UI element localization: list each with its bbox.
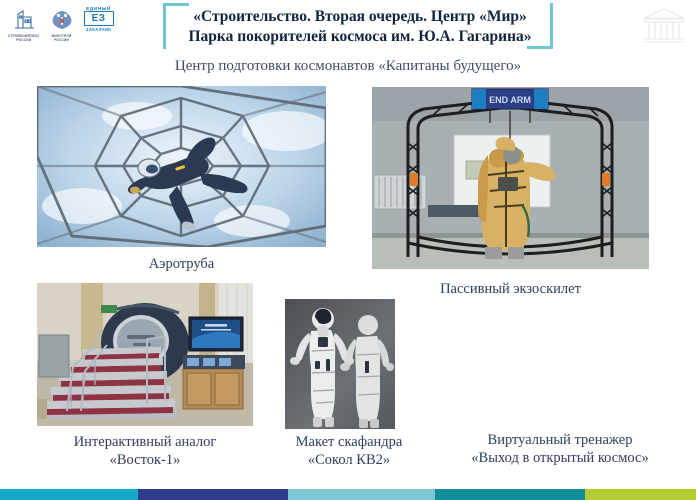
spacesuit-mockup-caption: Макет скафандра «Сокол КВ2»	[272, 433, 426, 470]
slide: СТРОЙКОМПЛЕКСРОССИИ МИНСТРОЙРОССИИ	[0, 0, 696, 500]
bracket-right-bar	[550, 3, 553, 49]
ez-mark-text: ЕЗ	[92, 14, 106, 24]
classical-building-icon	[640, 5, 688, 47]
spacesuit-mockup-photo	[285, 299, 395, 429]
vr-caption-line2: «Выход в открытый космос»	[428, 449, 692, 467]
title-bracket: «Строительство. Вторая очередь. Центр «М…	[163, 3, 553, 49]
wind-tunnel-caption: Аэротруба	[37, 255, 326, 273]
vostok-caption-line2: «Восток-1»	[20, 451, 270, 469]
suit-caption-line2: «Сокол КВ2»	[272, 451, 426, 469]
page-title-line1: «Строительство. Вторая очередь. Центр «М…	[177, 7, 543, 27]
wind-tunnel-photo	[37, 86, 326, 247]
stroykompleks-icon	[9, 6, 39, 32]
stroykompleks-logo: СТРОЙКОМПЛЕКСРОССИИ	[8, 6, 40, 42]
minstroy-logo-caption: МИНСТРОЙРОССИИ	[52, 34, 72, 42]
color-bar-segment-5	[585, 489, 696, 500]
minstroy-logo: МИНСТРОЙРОССИИ	[47, 6, 77, 42]
double-headed-eagle-icon	[47, 6, 77, 32]
exoskeleton-caption: Пассивный экзоскилет	[372, 280, 649, 298]
logo-group: СТРОЙКОМПЛЕКСРОССИИ МИНСТРОЙРОССИИ	[8, 6, 148, 48]
vostok-caption-line1: Интерактивный аналог	[20, 433, 270, 451]
suit-caption-line1: Макет скафандра	[272, 433, 426, 451]
color-bar-segment-1	[0, 489, 138, 500]
color-bar-segment-2	[138, 489, 288, 500]
exo-screen-label: END ARM	[489, 95, 531, 105]
exoskeleton-caption-line1: Пассивный экзоскилет	[372, 280, 649, 298]
color-bar-segment-4	[435, 489, 585, 500]
edinyy-zakazchik-logo: ЕДИНЫЙ ЕЗ ЗАКАЗЧИК	[84, 6, 114, 32]
wind-tunnel-caption-line1: Аэротруба	[37, 255, 326, 273]
exoskeleton-photo: END ARM	[372, 87, 649, 269]
vostok-simulator-photo	[37, 283, 253, 426]
page-title: «Строительство. Вторая очередь. Центр «М…	[177, 7, 543, 48]
vostok-simulator-caption: Интерактивный аналог «Восток-1»	[20, 433, 270, 470]
page-title-line2: Парка покорителей космоса им. Ю.А. Гагар…	[177, 27, 543, 47]
stroykompleks-logo-caption: СТРОЙКОМПЛЕКСРОССИИ	[8, 34, 40, 42]
vr-caption-line1: Виртуальный тренажер	[428, 431, 692, 449]
vr-simulator-caption: Виртуальный тренажер «Выход в открытый к…	[428, 431, 692, 468]
bracket-left-bar	[163, 3, 166, 49]
ez-mark: ЕЗ	[84, 11, 114, 26]
footer-color-bar	[0, 489, 696, 500]
bracket-top-left-bar	[163, 3, 189, 6]
zakazchik-label: ЗАКАЗЧИК	[86, 27, 111, 32]
subtitle: Центр подготовки космонавтов «Капитаны б…	[0, 58, 696, 75]
color-bar-segment-3	[288, 489, 435, 500]
